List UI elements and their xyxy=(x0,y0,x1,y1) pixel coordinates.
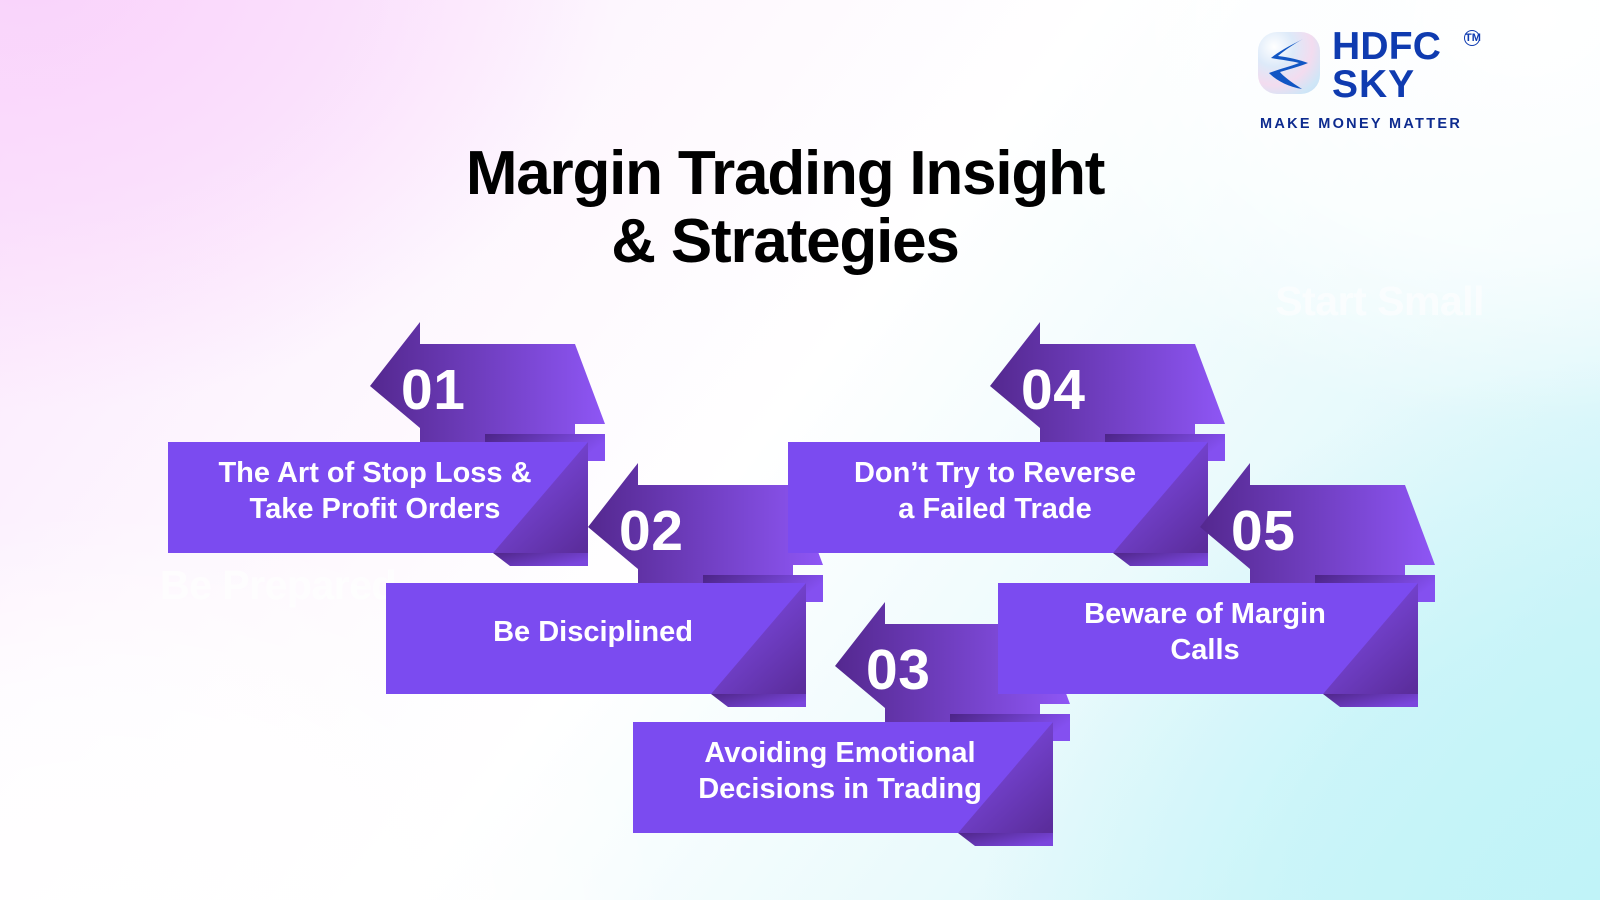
page-title-line1: Margin Trading Insight xyxy=(0,140,1570,208)
trademark-icon: TM xyxy=(1464,30,1480,46)
logo-word-line2: SKY xyxy=(1332,63,1415,106)
watermark-be-prepared: Be Prepared xyxy=(160,562,396,609)
hdfc-sky-swoosh-icon xyxy=(1258,32,1320,94)
logo-wordmark: HDFC SKY xyxy=(1332,28,1441,104)
logo-tagline: MAKE MONEY MATTER xyxy=(1260,116,1462,132)
page-title: Margin Trading Insight & Strategies xyxy=(0,140,1570,275)
infographic-canvas: Start Small Be Prepared HDFC SKY TM MAKE… xyxy=(0,0,1600,900)
step-banner-shadow-05 xyxy=(1323,694,1418,707)
logo-word-line1: HDFC xyxy=(1332,25,1441,68)
step-card-05[interactable]: 05 Beware of Margin Calls xyxy=(995,457,1435,707)
watermark-start-small: Start Small xyxy=(1275,278,1484,325)
hdfc-sky-logo: HDFC SKY TM MAKE MONEY MATTER xyxy=(1258,28,1488,140)
step-banner-shadow-03 xyxy=(958,833,1053,846)
page-title-line2: & Strategies xyxy=(0,208,1570,276)
